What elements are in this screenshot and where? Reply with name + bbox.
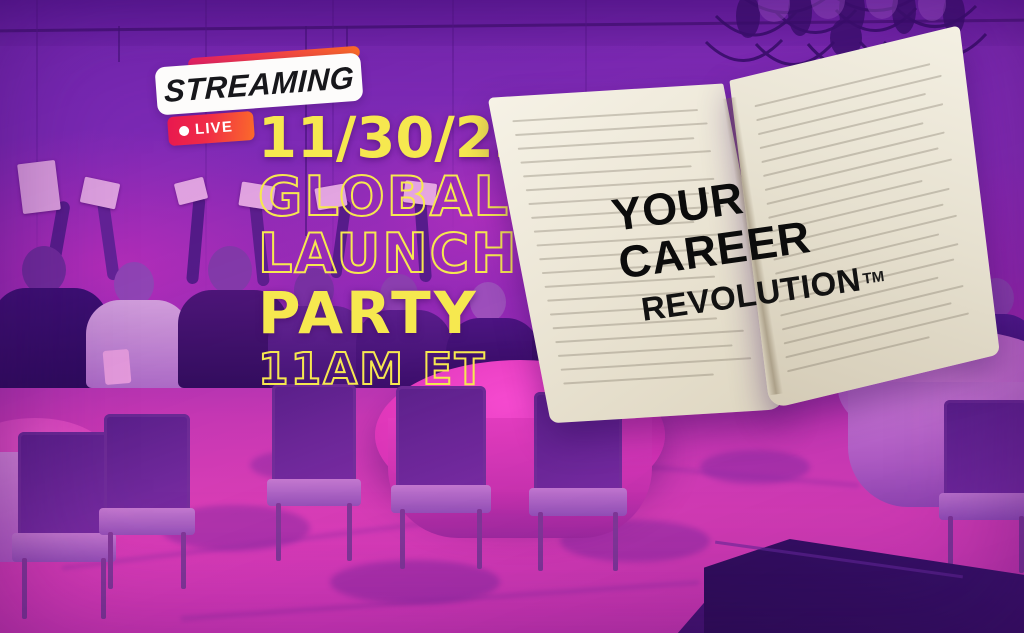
open-book-graphic: YOUR CAREER REVOLUTIONTM: [493, 36, 1017, 485]
headline-party: PARTY: [258, 285, 558, 342]
live-pill[interactable]: LIVE: [167, 111, 255, 146]
streaming-label: STREAMING: [164, 61, 355, 106]
trademark-symbol: TM: [862, 268, 886, 288]
promo-poster: STREAMING LIVE 11/30/22 GLOBAL LAUNCH PA…: [0, 0, 1024, 633]
live-label: LIVE: [194, 119, 233, 137]
event-time: 11AM ET: [258, 348, 558, 391]
live-dot-icon: [179, 125, 190, 136]
